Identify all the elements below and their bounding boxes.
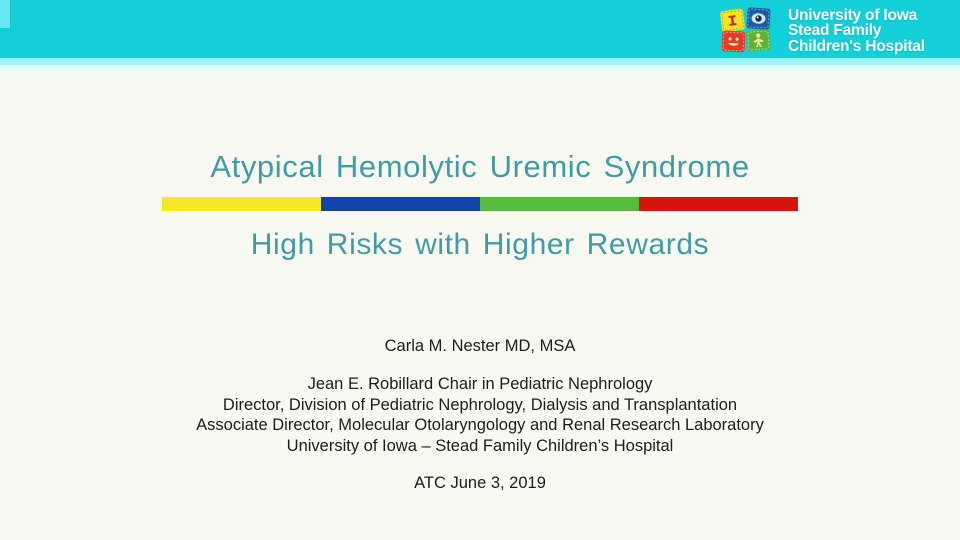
affiliation-line: Jean E. Robillard Chair in Pediatric Nep…: [0, 374, 960, 395]
presenter-affiliations: Jean E. Robillard Chair in Pediatric Nep…: [0, 374, 960, 456]
letter-i-tile-icon: [720, 9, 745, 33]
banner-underglow: [0, 58, 960, 65]
child-figure-tile-icon: [746, 29, 770, 52]
affiliation-line: Director, Division of Pediatric Nephrolo…: [0, 395, 960, 416]
event-date: ATC June 3, 2019: [0, 472, 960, 494]
hospital-logo: University of Iowa Stead Family Children…: [718, 7, 950, 55]
affiliation-line: Associate Director, Molecular Otolaryngo…: [0, 415, 960, 436]
banner-fade: [0, 65, 960, 77]
logo-wordmark: University of Iowa Stead Family Children…: [788, 8, 925, 55]
presenter-name: Carla M. Nester MD, MSA: [0, 335, 960, 357]
yellow-segment: [162, 197, 321, 211]
color-divider-bar: [162, 197, 798, 211]
presentation-slide: University of Iowa Stead Family Children…: [0, 0, 960, 540]
affiliation-line: University of Iowa – Stead Family Childr…: [0, 436, 960, 457]
slide-subtitle: High Risks with Higher Rewards: [0, 225, 960, 265]
logo-line-3: Children's Hospital: [788, 39, 925, 55]
banner-corner-accent: [0, 0, 10, 28]
logo-line-1: University of Iowa: [788, 8, 925, 24]
smiling-face-tile-icon: [721, 30, 745, 52]
red-segment: [639, 197, 798, 211]
slide-title: Atypical Hemolytic Uremic Syndrome: [0, 147, 960, 187]
logo-line-2: Stead Family: [788, 23, 925, 39]
blue-segment: [321, 197, 480, 211]
eye-tile-icon: [746, 7, 770, 30]
logo-mark: [718, 8, 782, 54]
green-segment: [480, 197, 639, 211]
